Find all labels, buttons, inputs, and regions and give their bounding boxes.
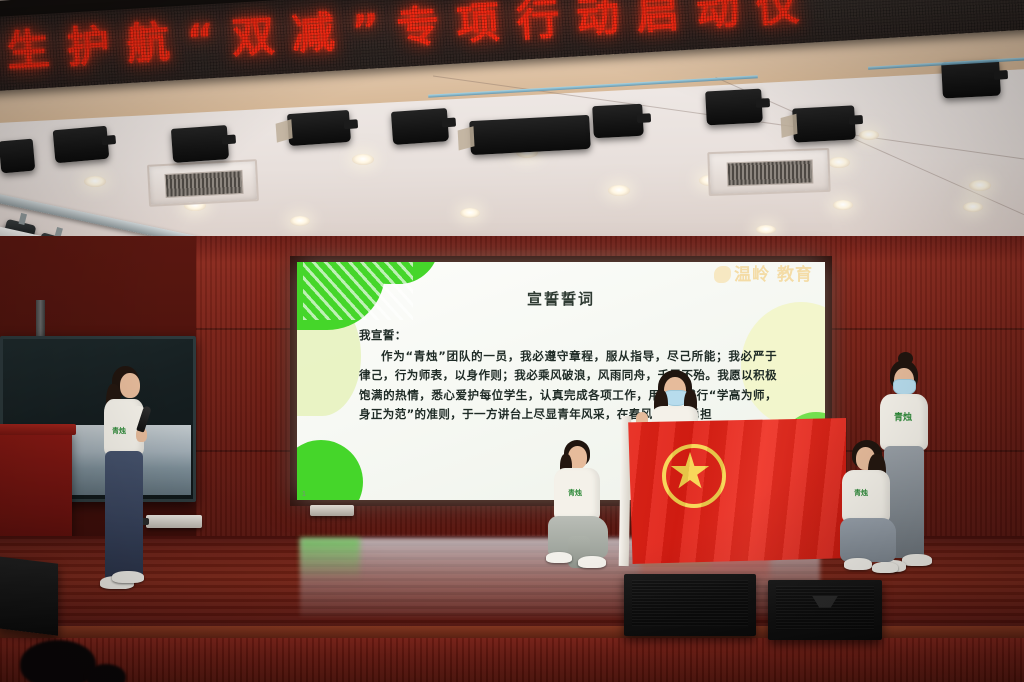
ceiling-downlight [756,225,776,234]
logo-mark-icon [714,266,731,283]
ceiling-downlight [859,130,879,140]
stage-spotlight-icon [941,60,1001,99]
organization-logo: 温岭 教育 [714,266,813,284]
logo-text: 温岭 教育 [734,265,813,285]
flag-ring-icon [662,444,726,508]
stage-spotlight-icon [592,104,644,139]
shirt-print: 青烛 [854,490,868,497]
floor-monitor-speaker [624,574,756,636]
slide-lead-line: 我宣誓： [359,326,777,346]
shoe [844,558,872,570]
hair-bun [898,352,913,365]
ceiling-downlight [828,157,850,168]
person-kneeling-center: 青烛 [548,440,614,574]
legs-jeans [840,518,896,562]
shirt-print: 青烛 [894,414,912,421]
ceiling-downlight [969,180,991,191]
speaker-grille [776,586,874,630]
shoe [902,554,932,566]
slide-decor-shape [297,440,363,500]
stage-front-panel [0,638,1024,682]
slide-title: 宣誓誓词 [297,288,825,309]
head [120,373,140,398]
communist-youth-league-flag [626,418,846,564]
shirt-print: 青烛 [112,428,126,435]
slide-body: 我宣誓： 作为“青烛”团队的一员，我必遵守章程，服从指导，尽己所能；我必严于律己… [359,326,777,425]
flag-star-icon [670,452,710,492]
ceiling-downlight [84,176,106,187]
stage-spotlight-icon [705,89,763,126]
air-conditioner-vent [707,148,830,196]
ceiling-downlight [963,202,983,212]
photo-scene: 范生护航“双减”专项行动启动仪 温岭 教育 宣誓誓词 我宣誓： [0,0,1024,682]
legs-jeans [105,451,143,581]
shoe [112,571,144,583]
audience-silhouette [20,640,96,682]
vent-grille [164,170,243,197]
stage-spotlight-bar [469,115,591,155]
slide-page-number: 1 [302,491,306,498]
ceiling-downlight [290,216,310,226]
projector [310,505,354,516]
stage-spotlight-icon [0,139,35,174]
podium-top [0,424,76,435]
air-conditioner-vent [147,159,259,207]
shoe [872,562,898,573]
vent-grille [726,159,814,186]
speaker-grille [632,580,748,626]
stage-spotlight-icon [171,125,229,163]
floor-reflection-green [300,538,360,580]
floor-monitor-speaker [768,580,882,640]
stage-spotlight-icon [53,126,110,164]
shoe [546,552,572,563]
ceiling-downlight [460,208,480,218]
face-mask [893,379,916,395]
person-speaker-left: 青烛 [96,366,156,622]
stage-spotlight-icon [287,110,351,146]
ceiling-downlight [608,185,630,196]
side-speaker [0,556,58,636]
person-kneeling-right: 青烛 [838,440,904,580]
ceiling-downlight [833,200,853,210]
stage-spotlight-icon [391,108,449,145]
slide-paragraph: 作为“青烛”团队的一员，我必遵守章程，服从指导，尽己所能；我必严于律己，行为师表… [359,347,777,425]
shirt-print: 青烛 [568,490,582,497]
stage-spotlight-icon [792,105,856,142]
ceiling-downlight [352,154,374,165]
shoe [578,556,606,568]
